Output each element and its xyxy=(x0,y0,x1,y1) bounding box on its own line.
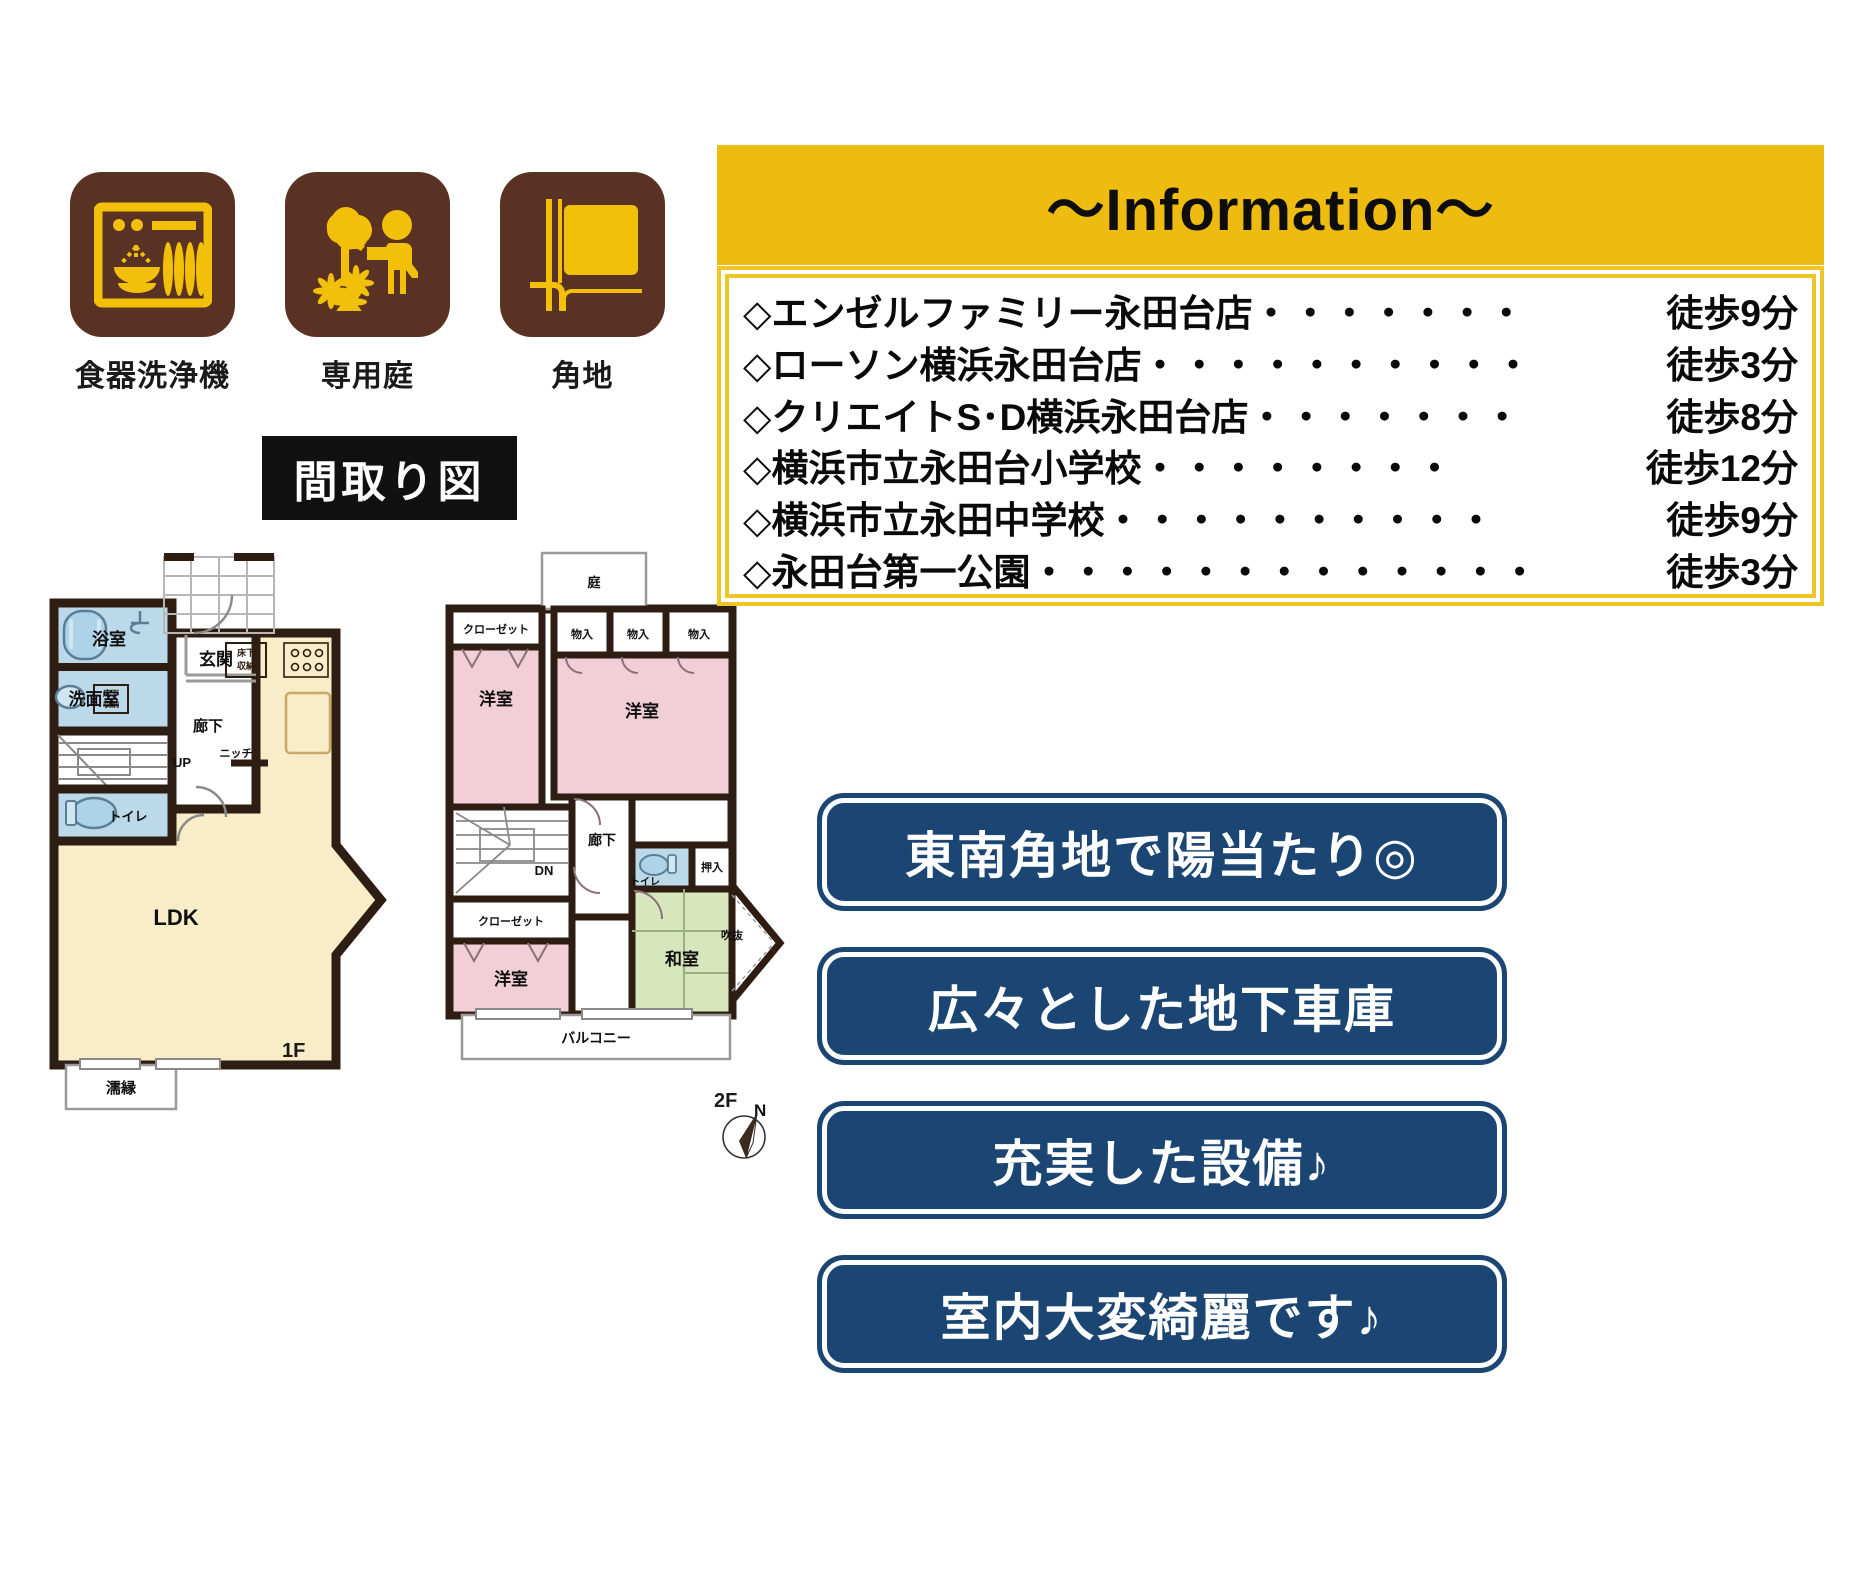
information-item: ◇エンゼルファミリー永田台店 ・・・・・・・ 徒歩9分 xyxy=(743,288,1798,340)
svg-text:LDK: LDK xyxy=(153,905,198,930)
info-dots: ・・・・・・・・ xyxy=(1141,443,1643,495)
info-walk-time: 徒歩8分 xyxy=(1664,392,1798,444)
compass-icon: N xyxy=(722,1103,776,1175)
feature-label: 専用庭 xyxy=(321,351,414,395)
svg-text:和室: 和室 xyxy=(665,949,699,969)
info-dots: ・・・・・・・ xyxy=(1248,392,1664,444)
svg-text:洋室: 洋室 xyxy=(625,701,659,721)
floorplan-title: 間取り図 xyxy=(262,436,517,520)
highlight-banner-text: 室内大変綺麗です♪ xyxy=(941,1278,1384,1350)
highlight-banner-1: 東南角地で陽当たり◎ xyxy=(822,798,1502,906)
svg-text:トイレ: トイレ xyxy=(108,809,147,824)
information-item: ◇横浜市立永田中学校 ・・・・・・・・・・ 徒歩9分 xyxy=(743,495,1798,547)
information-header: ～Information～ xyxy=(717,145,1824,265)
svg-text:吹抜: 吹抜 xyxy=(721,928,744,942)
info-dots: ・・・・・・・・・・ xyxy=(1104,495,1664,547)
info-dots: ・・・・・・・ xyxy=(1252,288,1664,340)
svg-text:クローゼット: クローゼット xyxy=(463,622,529,636)
feature-label: 食器洗浄機 xyxy=(75,351,230,395)
corner-lot-icon xyxy=(500,172,665,337)
svg-text:DN: DN xyxy=(535,863,554,878)
svg-text:洋室: 洋室 xyxy=(479,689,513,709)
svg-text:UP: UP xyxy=(173,755,191,770)
info-walk-time: 徒歩3分 xyxy=(1664,547,1798,599)
info-place-name: ◇横浜市立永田台小学校 xyxy=(743,443,1141,495)
information-item: ◇ローソン横浜永田台店 ・・・・・・・・・・ 徒歩3分 xyxy=(743,340,1798,392)
private-garden-icon xyxy=(285,172,450,337)
svg-text:庭: 庭 xyxy=(587,575,601,590)
info-walk-time: 徒歩3分 xyxy=(1664,340,1798,392)
information-title: ～Information～ xyxy=(1047,163,1495,247)
highlight-banner-4: 室内大変綺麗です♪ xyxy=(822,1260,1502,1368)
svg-text:クローゼット: クローゼット xyxy=(478,914,544,928)
info-dots: ・・・・・・・・・・ xyxy=(1141,340,1664,392)
highlight-banner-text: 充実した設備♪ xyxy=(993,1124,1332,1196)
svg-text:濡縁: 濡縁 xyxy=(106,1079,137,1097)
info-walk-time: 徒歩12分 xyxy=(1644,443,1798,495)
svg-text:床下: 床下 xyxy=(237,647,255,658)
floorplan-1f: 床下 収納 xyxy=(36,545,396,1185)
floorplan-container: 床下 収納 xyxy=(36,545,796,1185)
info-place-name: ◇ローソン横浜永田台店 xyxy=(743,340,1141,392)
svg-text:押入: 押入 xyxy=(701,860,723,874)
svg-text:洋室: 洋室 xyxy=(494,969,528,989)
info-walk-time: 徒歩9分 xyxy=(1664,288,1798,340)
feature-label: 角地 xyxy=(552,351,614,395)
info-place-name: ◇エンゼルファミリー永田台店 xyxy=(743,288,1252,340)
svg-text:物入: 物入 xyxy=(627,627,649,641)
highlight-banner-2: 広々とした地下車庫 xyxy=(822,952,1502,1060)
highlight-banner-text: 東南角地で陽当たり◎ xyxy=(905,816,1419,888)
highlight-banner-3: 充実した設備♪ xyxy=(822,1106,1502,1214)
svg-text:物入: 物入 xyxy=(571,627,593,641)
information-list: ◇エンゼルファミリー永田台店 ・・・・・・・ 徒歩9分 ◇ローソン横浜永田台店 … xyxy=(743,288,1798,599)
floorplan-2f: 庭 クローゼット 洋室 物入 物入 物入 xyxy=(432,545,792,1185)
feature-item-corner-lot: 角地 xyxy=(500,172,665,395)
svg-text:廊下: 廊下 xyxy=(193,718,223,735)
feature-item-dishwasher: 食器洗浄機 xyxy=(70,172,235,395)
highlight-banner-text: 広々とした地下車庫 xyxy=(928,970,1396,1042)
svg-text:バルコニー: バルコニー xyxy=(561,1030,631,1046)
feature-item-garden: 専用庭 xyxy=(285,172,450,395)
feature-icon-row: 食器洗浄機 xyxy=(70,172,665,395)
info-place-name: ◇クリエイトS･D横浜永田台店 xyxy=(743,392,1248,444)
information-item: ◇永田台第一公園 ・・・・・・・・・・・・・ 徒歩3分 xyxy=(743,547,1798,599)
svg-text:ニッチ: ニッチ xyxy=(220,747,253,760)
compass-north-label: N xyxy=(754,1101,766,1121)
info-place-name: ◇横浜市立永田中学校 xyxy=(743,495,1104,547)
floor-label-1f: 1F xyxy=(282,1040,305,1063)
svg-text:玄関: 玄関 xyxy=(199,649,233,669)
info-place-name: ◇永田台第一公園 xyxy=(743,547,1030,599)
information-item: ◇クリエイトS･D横浜永田台店 ・・・・・・・ 徒歩8分 xyxy=(743,392,1798,444)
svg-text:収納: 収納 xyxy=(237,660,255,671)
information-panel: ◇エンゼルファミリー永田台店 ・・・・・・・ 徒歩9分 ◇ローソン横浜永田台店 … xyxy=(717,266,1824,606)
svg-text:廊下: 廊下 xyxy=(588,832,616,848)
dishwasher-icon xyxy=(70,172,235,337)
information-item: ◇横浜市立永田台小学校 ・・・・・・・・ 徒歩12分 xyxy=(743,443,1798,495)
svg-text:物入: 物入 xyxy=(688,627,710,641)
svg-text:浴室: 浴室 xyxy=(92,629,126,649)
info-walk-time: 徒歩9分 xyxy=(1664,495,1798,547)
info-dots: ・・・・・・・・・・・・・ xyxy=(1030,547,1664,599)
svg-text:洗面室: 洗面室 xyxy=(69,689,120,709)
